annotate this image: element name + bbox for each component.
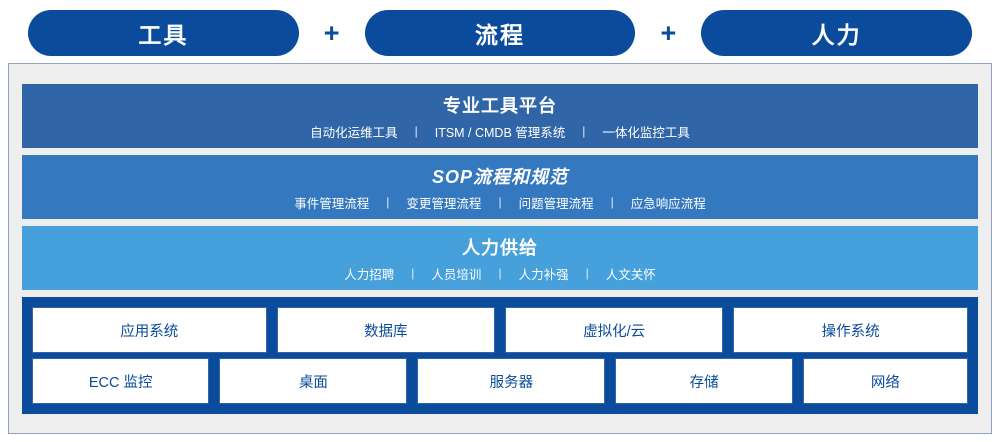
layer-title-tool-platform: 专业工具平台 [443,92,557,118]
plus-icon-2: + [635,20,701,47]
pill-manpower[interactable]: 人力 [701,10,972,56]
infra-box-network[interactable]: 网络 [803,358,968,404]
layer-item[interactable]: 人力补强 [502,264,586,283]
layer-item[interactable]: 应急响应流程 [614,193,723,212]
infra-box-database[interactable]: 数据库 [277,307,495,353]
infra-box-server[interactable]: 服务器 [417,358,605,404]
layer-item[interactable]: 人文关怀 [589,264,673,283]
infrastructure-row-1: 应用系统 数据库 虚拟化/云 操作系统 [32,307,968,353]
layer-item[interactable]: 人员培训 [414,264,498,283]
layer-item[interactable]: 人力招聘 [327,264,411,283]
infra-box-ecc-monitoring[interactable]: ECC 监控 [32,358,209,404]
diagram-canvas: 工具 + 流程 + 人力 专业工具平台 自动化运维工具 | ITSM / CMD… [0,0,1000,442]
layer-items-manpower-supply: 人力招聘 | 人员培训 | 人力补强 | 人文关怀 [327,264,672,283]
layer-stack-container: 专业工具平台 自动化运维工具 | ITSM / CMDB 管理系统 | 一体化监… [8,63,992,434]
infra-box-virtualization-cloud[interactable]: 虚拟化/云 [505,307,723,353]
layer-item[interactable]: 一体化监控工具 [585,122,707,141]
infrastructure-row-2: ECC 监控 桌面 服务器 存储 网络 [32,358,968,404]
layer-title-sop-process: SOP流程和规范 [432,163,568,189]
pill-process[interactable]: 流程 [365,10,636,56]
layer-tool-platform[interactable]: 专业工具平台 自动化运维工具 | ITSM / CMDB 管理系统 | 一体化监… [22,84,978,148]
plus-icon-1: + [299,20,365,47]
infra-box-storage[interactable]: 存储 [615,358,792,404]
layer-title-manpower-supply: 人力供给 [462,234,538,260]
infrastructure-panel: 应用系统 数据库 虚拟化/云 操作系统 ECC 监控 桌面 服务器 存储 网络 [22,297,978,414]
top-formula-row: 工具 + 流程 + 人力 [28,10,972,56]
layer-item[interactable]: 问题管理流程 [502,193,611,212]
layer-items-sop-process: 事件管理流程 | 变更管理流程 | 问题管理流程 | 应急响应流程 [277,193,722,212]
layer-item[interactable]: ITSM / CMDB 管理系统 [418,122,583,141]
infra-box-desktop[interactable]: 桌面 [219,358,407,404]
infra-box-operating-system[interactable]: 操作系统 [733,307,968,353]
infra-box-application-system[interactable]: 应用系统 [32,307,267,353]
layer-item[interactable]: 自动化运维工具 [293,122,415,141]
pill-tools[interactable]: 工具 [28,10,299,56]
layer-item[interactable]: 事件管理流程 [277,193,386,212]
layer-sop-process[interactable]: SOP流程和规范 事件管理流程 | 变更管理流程 | 问题管理流程 | 应急响应… [22,155,978,219]
layer-items-tool-platform: 自动化运维工具 | ITSM / CMDB 管理系统 | 一体化监控工具 [293,122,707,141]
layer-item[interactable]: 变更管理流程 [389,193,498,212]
layer-manpower-supply[interactable]: 人力供给 人力招聘 | 人员培训 | 人力补强 | 人文关怀 [22,226,978,290]
